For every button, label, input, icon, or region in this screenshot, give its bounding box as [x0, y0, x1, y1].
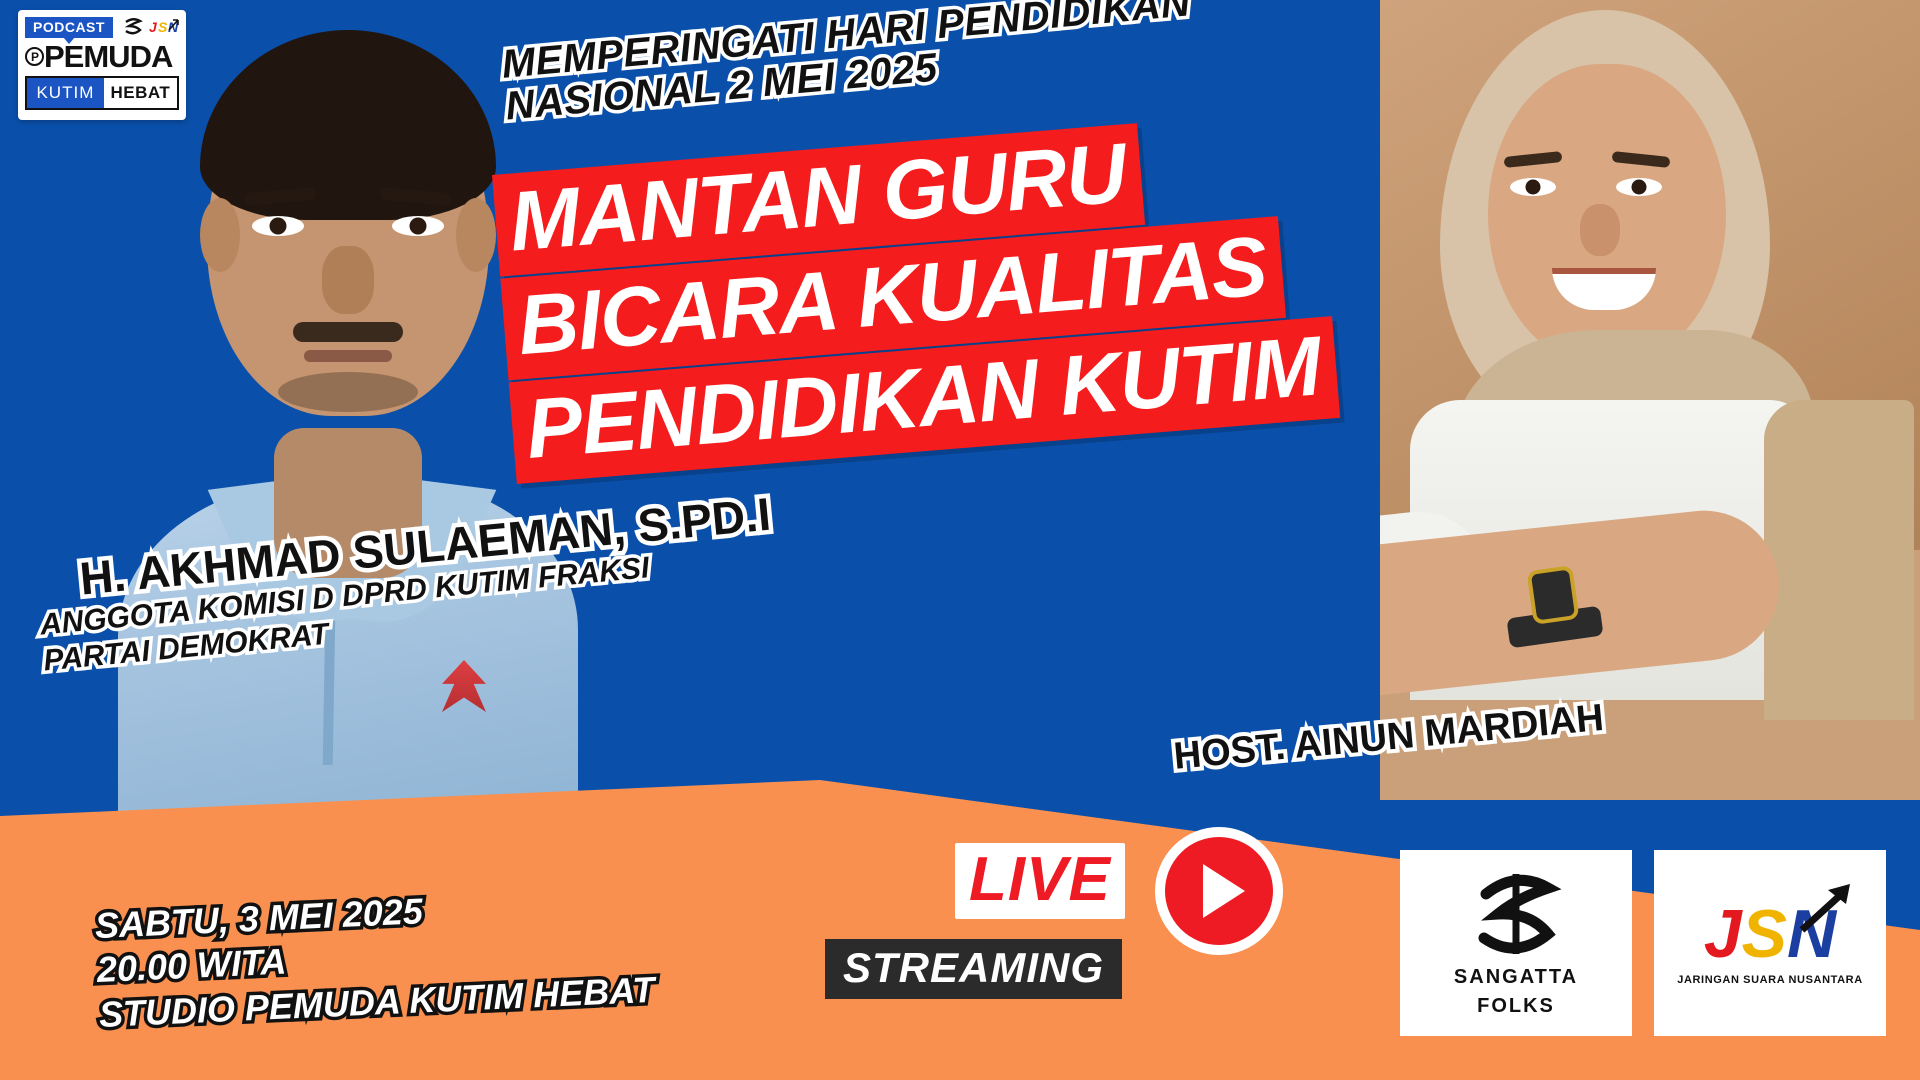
host-nose: [1580, 204, 1620, 256]
logo-hebat-label: HEBAT: [104, 78, 177, 108]
jsn-mini-icon: J S N: [149, 17, 179, 37]
logo-kutim-label: KUTIM: [27, 78, 104, 108]
sangatta-folks-mini-icon: [122, 16, 144, 38]
jsn-letter-j: J: [1704, 900, 1742, 968]
svg-text:S: S: [158, 19, 168, 35]
streaming-label: STREAMING: [843, 944, 1104, 991]
logo-top-row: PODCAST J S N: [25, 16, 179, 38]
live-label-plate: LIVE: [955, 843, 1125, 919]
guest-eye-left: [252, 216, 304, 236]
jsn-letter-s: S: [1742, 900, 1787, 968]
sangatta-folks-monogram-icon: [1468, 868, 1564, 960]
sponsor-jsn-tagline: JARINGAN SUARA NUSANTARA: [1677, 974, 1863, 986]
streaming-label-plate: STREAMING: [825, 939, 1122, 999]
logo-p-badge-icon: P: [25, 47, 44, 66]
guest-party-pin: [442, 660, 486, 712]
sponsor-jsn: J S N JARINGAN SUARA NUSANTARA: [1654, 850, 1886, 1036]
poster-canvas: PODCAST J S N P PEMUDA KUTIM HEBAT: [0, 0, 1920, 1080]
host-vest: [1764, 400, 1914, 720]
sponsor-sangatta-name-1: SANGATTA: [1454, 966, 1578, 989]
sponsor-logos: SANGATTA FOLKS J S N JARINGAN SUARA NUSA…: [1400, 850, 1886, 1036]
guest-nose: [322, 246, 374, 314]
host-eye-left: [1510, 178, 1556, 196]
guest-chin-shadow: [278, 372, 418, 412]
live-label: LIVE: [969, 849, 1111, 911]
guest-hair: [200, 30, 496, 220]
svg-text:J: J: [149, 19, 158, 35]
guest-eye-right: [392, 216, 444, 236]
jsn-arrow-icon: [1798, 882, 1858, 936]
podcast-logo-card: PODCAST J S N P PEMUDA KUTIM HEBAT: [18, 10, 186, 120]
host-eye-right: [1616, 178, 1662, 196]
play-icon[interactable]: [1155, 827, 1283, 955]
guest-ear-right: [456, 198, 496, 272]
main-headline: MANTAN GURU BICARA KUALITAS PENDIDIKAN K…: [492, 109, 1334, 484]
sponsor-sangatta-folks: SANGATTA FOLKS: [1400, 850, 1632, 1036]
logo-podcast-label: PODCAST: [25, 17, 113, 38]
logo-pemuda-wordmark: P PEMUDA: [25, 43, 179, 71]
logo-bottom-row: KUTIM HEBAT: [25, 76, 179, 110]
guest-moustache: [293, 322, 403, 342]
logo-partner-marks: J S N: [122, 16, 179, 38]
sponsor-sangatta-name-2: FOLKS: [1477, 995, 1555, 1018]
guest-mouth: [304, 350, 392, 362]
live-streaming-badge: LIVE STREAMING: [955, 843, 1225, 1028]
host-photo: [1380, 0, 1920, 800]
host-watch: [1526, 565, 1579, 625]
guest-ear-left: [200, 198, 240, 272]
play-triangle-icon: [1203, 864, 1245, 918]
logo-pemuda-text: PEMUDA: [44, 43, 172, 71]
